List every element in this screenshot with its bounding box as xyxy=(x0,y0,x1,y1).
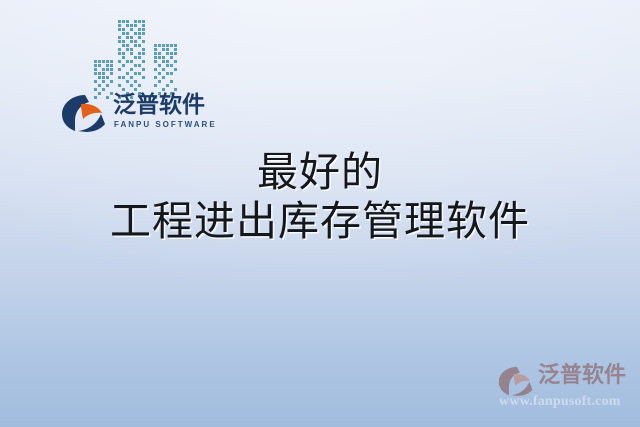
watermark-name-cn: 泛普软件 xyxy=(538,362,638,390)
presentation-slide: 泛普软件 FANPU SOFTWARE 最好的 工程进出库存管理软件 泛普软件 … xyxy=(0,0,640,427)
slide-title: 最好的 工程进出库存管理软件 xyxy=(0,148,640,246)
brand-wordmark: 泛普软件 FANPU SOFTWARE xyxy=(113,93,213,130)
pixel-skyline-icon xyxy=(92,16,192,100)
brand-name-cn: 泛普软件 xyxy=(113,93,213,118)
watermark-logo-mark-icon xyxy=(498,366,534,396)
watermark-wordmark: 泛普软件 xyxy=(538,362,638,390)
brand-logo: 泛普软件 FANPU SOFTWARE xyxy=(61,93,211,137)
watermark-url: www.fanpusoft.com xyxy=(499,393,621,410)
brand-name-en: FANPU SOFTWARE xyxy=(113,119,213,130)
title-line-2: 工程进出库存管理软件 xyxy=(0,197,640,246)
fanpu-logo-mark-icon xyxy=(61,94,107,132)
title-line-1: 最好的 xyxy=(0,148,640,197)
watermark: 泛普软件 www.fanpusoft.com xyxy=(498,362,636,416)
